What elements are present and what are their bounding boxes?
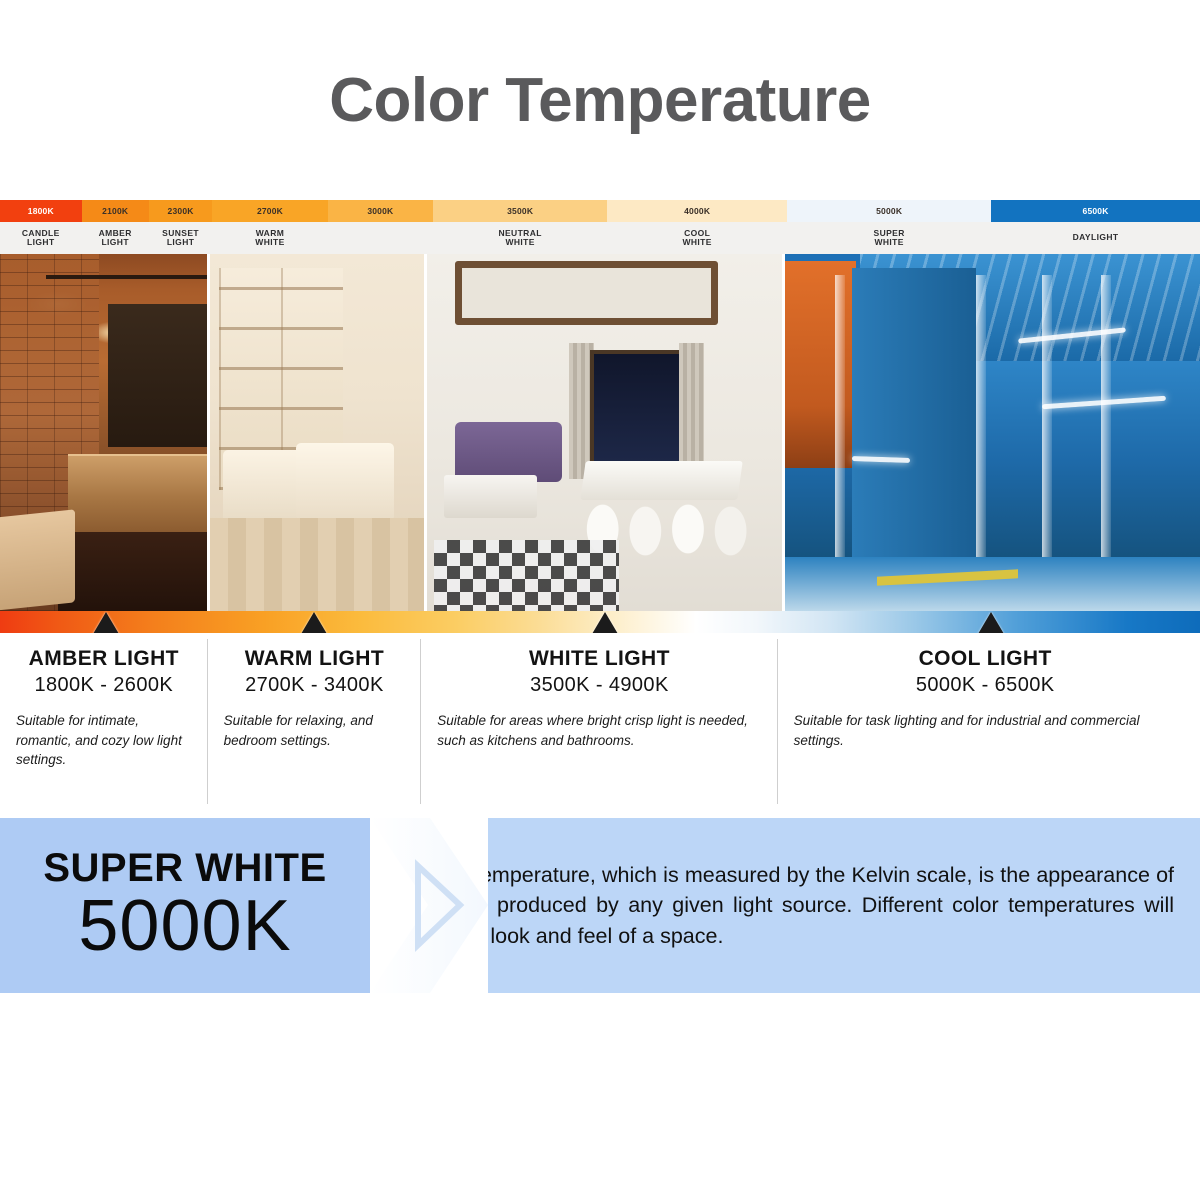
scale-name-blank — [328, 222, 434, 254]
scale-name-super: SUPERWHITE — [787, 222, 991, 254]
warm-living-shelves-photo — [210, 254, 423, 611]
infographic-page: Color Temperature 1800K2100K2300K2700K30… — [0, 0, 1200, 1200]
banner-super-white-label: SUPER WHITE — [43, 848, 326, 888]
ceiling-panel — [455, 261, 718, 325]
banner-right-panel: The color temperature, which is measured… — [370, 818, 1200, 993]
legend-column-warm-light: WARM LIGHT2700K - 3400KSuitable for rela… — [208, 633, 422, 818]
support-column — [976, 275, 986, 575]
scale-name-daylight: DAYLIGHT — [991, 222, 1200, 254]
banner-left-panel: SUPER WHITE 5000K — [0, 818, 370, 993]
scale-segment-6500k: 6500K — [991, 200, 1200, 222]
wood-floor — [210, 518, 423, 611]
scale-name-line2: WHITE — [255, 238, 284, 247]
scale-segment-2100k: 2100K — [82, 200, 149, 222]
scale-kelvin-label: 2700K — [257, 206, 283, 216]
purple-sofa — [455, 422, 562, 483]
photo-band — [0, 254, 1200, 611]
legend-title: COOL LIGHT — [778, 647, 1193, 671]
legend-column-amber-light: AMBER LIGHT1800K - 2600KSuitable for int… — [0, 633, 208, 818]
banner-kelvin-value: 5000K — [78, 890, 291, 963]
legend-kelvin-range: 1800K - 2600K — [0, 674, 208, 697]
scale-segment-4000k: 4000K — [607, 200, 787, 222]
scale-kelvin-label: 1800K — [28, 206, 54, 216]
banner-inner: SUPER WHITE 5000K The color temperature,… — [0, 818, 1200, 993]
page-title: Color Temperature — [329, 65, 871, 136]
scale-name-candle: CANDLELIGHT — [0, 222, 82, 254]
support-column — [1101, 275, 1111, 575]
legend-description: Suitable for areas where bright crisp li… — [421, 711, 777, 750]
temperature-gradient-bar — [0, 611, 1200, 633]
amber-brick-cafe-photo — [0, 254, 207, 611]
scale-name-warm: WARMWHITE — [212, 222, 327, 254]
scale-segment-5000k: 5000K — [787, 200, 991, 222]
scale-name-line2: LIGHT — [167, 238, 195, 247]
scale-name-line2: LIGHT — [101, 238, 129, 247]
legend-kelvin-range: 2700K - 3400K — [208, 674, 422, 697]
scale-kelvin-label: 5000K — [876, 206, 902, 216]
legend-kelvin-range: 5000K - 6500K — [778, 674, 1193, 697]
scale-kelvin-label: 6500K — [1083, 206, 1109, 216]
scale-kelvin-label: 3000K — [367, 206, 393, 216]
scale-kelvin-label: 3500K — [507, 206, 533, 216]
scale-name-line1: DAYLIGHT — [1073, 233, 1119, 242]
scale-name-amber: AMBERLIGHT — [82, 222, 149, 254]
chevron-right-icon — [370, 818, 488, 993]
scale-name-line2: WHITE — [874, 238, 903, 247]
scale-kelvin-label: 2300K — [168, 206, 194, 216]
scale-segment-2700k: 2700K — [212, 200, 327, 222]
legend-row: AMBER LIGHT1800K - 2600KSuitable for int… — [0, 633, 1200, 818]
scale-segment-1800k: 1800K — [0, 200, 82, 222]
night-window — [590, 350, 691, 465]
legend-title: WARM LIGHT — [208, 647, 422, 671]
legend-kelvin-range: 3500K - 4900K — [421, 674, 777, 697]
dark-back-wall — [108, 304, 207, 447]
scale-segment-3500k: 3500K — [433, 200, 607, 222]
legend-description: Suitable for task lighting and for indus… — [778, 711, 1193, 750]
track-light-rail — [46, 275, 208, 279]
cool-marker — [978, 612, 1004, 634]
support-column — [835, 275, 845, 575]
scale-kelvin-label: 2100K — [102, 206, 128, 216]
scale-name-line2: WHITE — [505, 238, 534, 247]
kelvin-name-row: CANDLELIGHTAMBERLIGHTSUNSETLIGHTWARMWHIT… — [0, 222, 1200, 254]
legend-description: Suitable for intimate, romantic, and coz… — [0, 711, 208, 770]
legend-column-white-light: WHITE LIGHT3500K - 4900KSuitable for are… — [421, 633, 777, 818]
bench-seat — [0, 509, 75, 611]
legend-description: Suitable for relaxing, and bedroom setti… — [208, 711, 422, 750]
scale-name-sunset: SUNSETLIGHT — [149, 222, 213, 254]
scale-name-line2: WHITE — [682, 238, 711, 247]
wood-counter — [68, 454, 207, 533]
white-living-dining-room-photo — [427, 254, 783, 611]
header: Color Temperature — [0, 0, 1200, 200]
scale-name-neutral: NEUTRALWHITE — [433, 222, 607, 254]
kelvin-scale-strip: 1800K2100K2300K2700K3000K3500K4000K5000K… — [0, 200, 1200, 222]
orange-silo — [785, 261, 855, 468]
concrete-floor — [785, 557, 1200, 611]
amber-marker — [93, 612, 119, 634]
coffee-table — [444, 475, 537, 518]
support-column — [1042, 275, 1052, 575]
warm-marker — [301, 612, 327, 634]
cream-sofa-right — [296, 443, 394, 522]
legend-title: WHITE LIGHT — [421, 647, 777, 671]
legend-column-cool-light: COOL LIGHT5000K - 6500KSuitable for task… — [778, 633, 1193, 818]
bottom-banner: SUPER WHITE 5000K The color temperature,… — [0, 818, 1200, 993]
banner-paragraph: The color temperature, which is measured… — [378, 860, 1174, 952]
scale-kelvin-label: 4000K — [684, 206, 710, 216]
cool-industrial-hall-photo — [785, 254, 1200, 611]
scale-name-line2: LIGHT — [27, 238, 55, 247]
curtain-right — [679, 343, 704, 479]
blue-wall — [852, 268, 976, 568]
legend-title: AMBER LIGHT — [0, 647, 208, 671]
checkered-rug — [434, 540, 619, 611]
dark-floor — [58, 532, 207, 611]
white-marker — [592, 612, 618, 634]
scale-name-cool: COOLWHITE — [607, 222, 787, 254]
scale-segment-3000k: 3000K — [328, 200, 434, 222]
scale-segment-2300k: 2300K — [149, 200, 213, 222]
